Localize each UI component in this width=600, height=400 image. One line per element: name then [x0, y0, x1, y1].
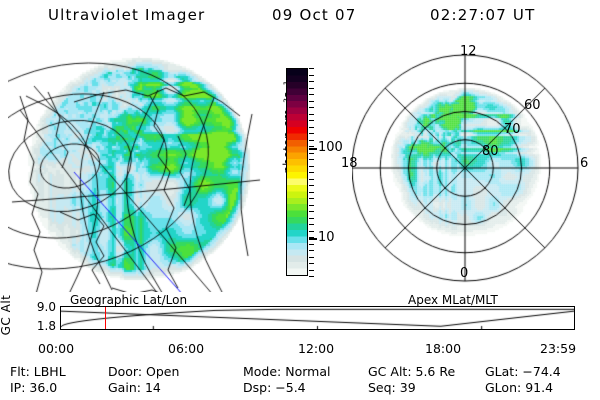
status-field: GC Alt: 5.6 Re [368, 364, 455, 379]
status-field: Mode: Normal [243, 364, 330, 379]
status-field: Flt: LBHL [10, 364, 66, 379]
geographic-globe-image [8, 44, 270, 292]
status-field-key: Gain: [108, 380, 145, 395]
status-field-value: 39 [400, 380, 416, 395]
time-axis-tick-label: 06:00 [168, 341, 204, 356]
status-field-key: Flt: [10, 364, 34, 379]
status-field: IP: 36.0 [10, 380, 57, 395]
status-field: Door: Open [108, 364, 179, 379]
orbit-altitude-panel: GC Alt 9.0 1.8 Geographic Lat/Lon Apex M… [0, 294, 600, 340]
gc-alt-axis-label: GC Alt [0, 296, 14, 340]
geographic-globe-panel [8, 44, 270, 292]
orbit-plot-box [60, 306, 575, 330]
status-field-key: Dsp: [243, 380, 275, 395]
colorbar-major-tick [309, 148, 317, 150]
status-field-value: LBHL [34, 364, 66, 379]
colorbar-minor-tick [309, 166, 314, 167]
colorbar-minor-tick [309, 231, 314, 232]
colorbar-minor-tick [309, 114, 314, 115]
status-field-key: IP: [10, 380, 29, 395]
colorbar-minor-tick [309, 205, 314, 206]
colorbar-minor-tick [309, 263, 314, 264]
status-field: Seq: 39 [368, 380, 416, 395]
time-axis-tick-label: 23:59 [540, 341, 576, 356]
colorbar-minor-tick [309, 224, 314, 225]
colorbar-minor-tick [309, 120, 314, 121]
status-field: GLat: −74.4 [485, 364, 561, 379]
colorbar-minor-tick [309, 75, 314, 76]
status-field-key: GC Alt: [368, 364, 416, 379]
colorbar-minor-tick [309, 211, 314, 212]
current-time-marker [105, 307, 106, 329]
time-axis-tick-label: 00:00 [38, 341, 74, 356]
colorbar-minor-tick [309, 88, 314, 89]
status-field-key: GLon: [485, 380, 525, 395]
orbit-altitude-trace [61, 307, 574, 329]
colorbar-minor-tick [309, 179, 314, 180]
status-field: Dsp: −5.4 [243, 380, 306, 395]
colorbar-minor-tick [309, 94, 314, 95]
status-field-value: −5.4 [275, 380, 305, 395]
colorbar-minor-tick [309, 81, 314, 82]
polar-aurora-plot [352, 44, 592, 294]
status-field-value: 5.6 Re [416, 364, 456, 379]
polar-mlt-label: 0 [460, 266, 468, 281]
colorbar-minor-tick [309, 140, 314, 141]
gc-alt-tick-high: 9.0 [37, 300, 56, 314]
observation-time: 02:27:07 UT [430, 6, 535, 24]
colorbar-minor-tick [309, 250, 314, 251]
geographic-latlon-title: Geographic Lat/Lon [70, 293, 187, 307]
colorbar-minor-tick [309, 192, 314, 193]
gc-alt-axis-label-text: GC Alt [0, 294, 13, 336]
colorbar-minor-tick [309, 127, 314, 128]
colorbar-minor-tick [309, 107, 314, 108]
status-field-value: 14 [145, 380, 161, 395]
apex-mlat-mlt-title: Apex MLat/MLT [408, 293, 498, 307]
polar-mlt-label: 6 [580, 156, 588, 171]
colorbar-minor-tick [309, 146, 314, 147]
colorbar-minor-tick [309, 101, 314, 102]
colorbar-minor-tick [309, 172, 314, 173]
colorbar-minor-tick [309, 257, 314, 258]
status-field: Gain: 14 [108, 380, 161, 395]
status-field-key: Mode: [243, 364, 285, 379]
polar-mlat-label: 80 [482, 144, 499, 159]
status-field-value: 91.4 [525, 380, 553, 395]
polar-mlat-label: 70 [504, 122, 521, 137]
colorbar-minor-tick [309, 153, 314, 154]
observation-date: 09 Oct 07 [272, 6, 356, 24]
time-axis: 00:0006:0012:0018:0023:59 [0, 341, 600, 359]
page-title: Ultraviolet Imager [48, 6, 205, 24]
colorbar-minor-tick [309, 244, 314, 245]
colorbar-tick-label: 100 [318, 140, 343, 155]
colorbar-minor-tick [309, 198, 314, 199]
status-field: GLon: 91.4 [485, 380, 553, 395]
status-field-key: GLat: [485, 364, 522, 379]
colorbar-panel: photon cm⁻²s⁻¹ 10010 [268, 60, 364, 292]
colorbar-minor-tick [309, 218, 314, 219]
apex-mlat-mlt-panel: 121860607080 [352, 44, 592, 294]
colorbar-tick-label: 10 [318, 230, 335, 245]
colorbar-minor-tick [309, 276, 314, 277]
time-axis-tick-label: 12:00 [298, 341, 334, 356]
status-field-key: Door: [108, 364, 146, 379]
colorbar-minor-tick [309, 159, 314, 160]
colorbar-minor-tick [309, 68, 314, 69]
status-field-value: 36.0 [29, 380, 57, 395]
colorbar-minor-tick [309, 185, 314, 186]
colorbar-gradient [286, 68, 308, 276]
status-bar: Flt: LBHLIP: 36.0Door: OpenGain: 14Mode:… [0, 364, 600, 398]
polar-mlt-label: 18 [341, 156, 358, 171]
polar-mlat-label: 60 [524, 98, 541, 113]
colorbar-minor-tick [309, 270, 314, 271]
status-field-value: −74.4 [522, 364, 560, 379]
header-bar: Ultraviolet Imager 09 Oct 07 02:27:07 UT [0, 4, 600, 30]
colorbar-minor-tick [309, 133, 314, 134]
colorbar-major-tick [309, 238, 317, 240]
gc-alt-tick-low: 1.8 [37, 319, 56, 333]
gc-alt-tick-labels: 9.0 1.8 [18, 294, 56, 334]
status-field-key: Seq: [368, 380, 400, 395]
polar-mlt-label: 12 [460, 44, 477, 59]
status-field-value: Normal [285, 364, 330, 379]
status-field-value: Open [146, 364, 179, 379]
time-axis-tick-label: 18:00 [425, 341, 461, 356]
